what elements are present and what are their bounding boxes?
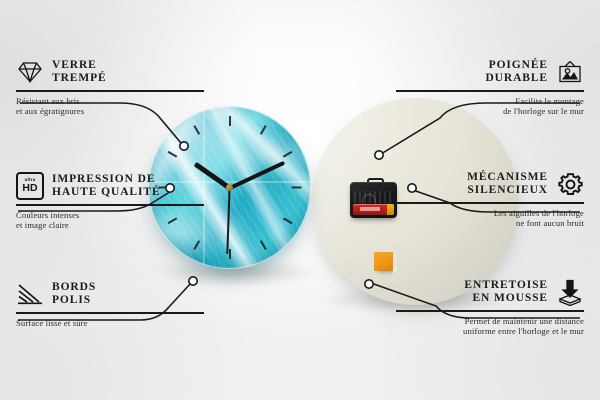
feature-mecanisme-silencieux: MÉCANISME SILENCIEUX Les aiguilles de l'… — [396, 170, 584, 229]
ultra-hd-icon: ultra HD — [16, 172, 44, 200]
divider — [16, 90, 204, 92]
divider — [16, 312, 204, 314]
feature-sub-line2: ne font aucun bruit — [396, 218, 584, 229]
feature-title: POIGNÉE DURABLE — [485, 59, 548, 86]
feature-sub-line1: Couleurs intenses — [16, 210, 204, 221]
feature-header: ENTRETOISE EN MOUSSE — [396, 278, 584, 306]
feature-sub-line1: Permet de maintenir une distance — [396, 316, 584, 327]
gear-icon — [556, 170, 584, 198]
feature-title: BORDS POLIS — [52, 281, 96, 308]
feature-sub-line1: Surface lisse et sûre — [16, 318, 204, 329]
feature-bords-polis: BORDS POLIS Surface lisse et sûre — [16, 280, 204, 328]
feature-title: ENTRETOISE EN MOUSSE — [464, 279, 548, 306]
diamond-icon — [16, 58, 44, 86]
infographic-canvas: VERRE TREMPÉ Résistant aux bris et aux é… — [0, 0, 600, 400]
feature-sub-line2: et aux égratignures — [16, 106, 204, 117]
divider — [396, 310, 584, 312]
divider — [396, 90, 584, 92]
feature-header: BORDS POLIS — [16, 280, 204, 308]
feature-sub-line1: Les aiguilles de l'horloge — [396, 208, 584, 219]
connector-dot-verre — [180, 142, 188, 150]
feature-sub-line2: de l'horloge sur le mur — [396, 106, 584, 117]
feature-sub-line2: uniforme entre l'horloge et le mur — [396, 326, 584, 337]
feature-title: IMPRESSION DE HAUTE QUALITÉ — [52, 173, 161, 200]
divider — [16, 204, 204, 206]
connector-dot-poignee — [375, 151, 383, 159]
feature-title: MÉCANISME SILENCIEUX — [467, 171, 548, 198]
feature-header: ultra HD IMPRESSION DE HAUTE QUALITÉ — [16, 172, 204, 200]
feature-impression-haute-qualite: ultra HD IMPRESSION DE HAUTE QUALITÉ Cou… — [16, 172, 204, 231]
feature-sub-line2: et image claire — [16, 220, 204, 231]
polished-edge-icon — [16, 280, 44, 308]
hd-label: HD — [22, 183, 37, 194]
feature-sub-line1: Résistant aux bris — [16, 96, 204, 107]
feature-title: VERRE TREMPÉ — [52, 59, 107, 86]
hanging-frame-icon — [556, 58, 584, 86]
feature-poignee-durable: POIGNÉE DURABLE Facilite le montage de l… — [396, 58, 584, 117]
feature-entretoise-en-mousse: ENTRETOISE EN MOUSSE Permet de maintenir… — [396, 278, 584, 337]
connector-dot-entretoise — [365, 280, 373, 288]
feature-header: VERRE TREMPÉ — [16, 58, 204, 86]
feature-verre-trempe: VERRE TREMPÉ Résistant aux bris et aux é… — [16, 58, 204, 117]
press-down-arrow-icon — [556, 278, 584, 306]
feature-header: POIGNÉE DURABLE — [396, 58, 584, 86]
feature-sub-line1: Facilite le montage — [396, 96, 584, 107]
feature-header: MÉCANISME SILENCIEUX — [396, 170, 584, 198]
divider — [396, 202, 584, 204]
